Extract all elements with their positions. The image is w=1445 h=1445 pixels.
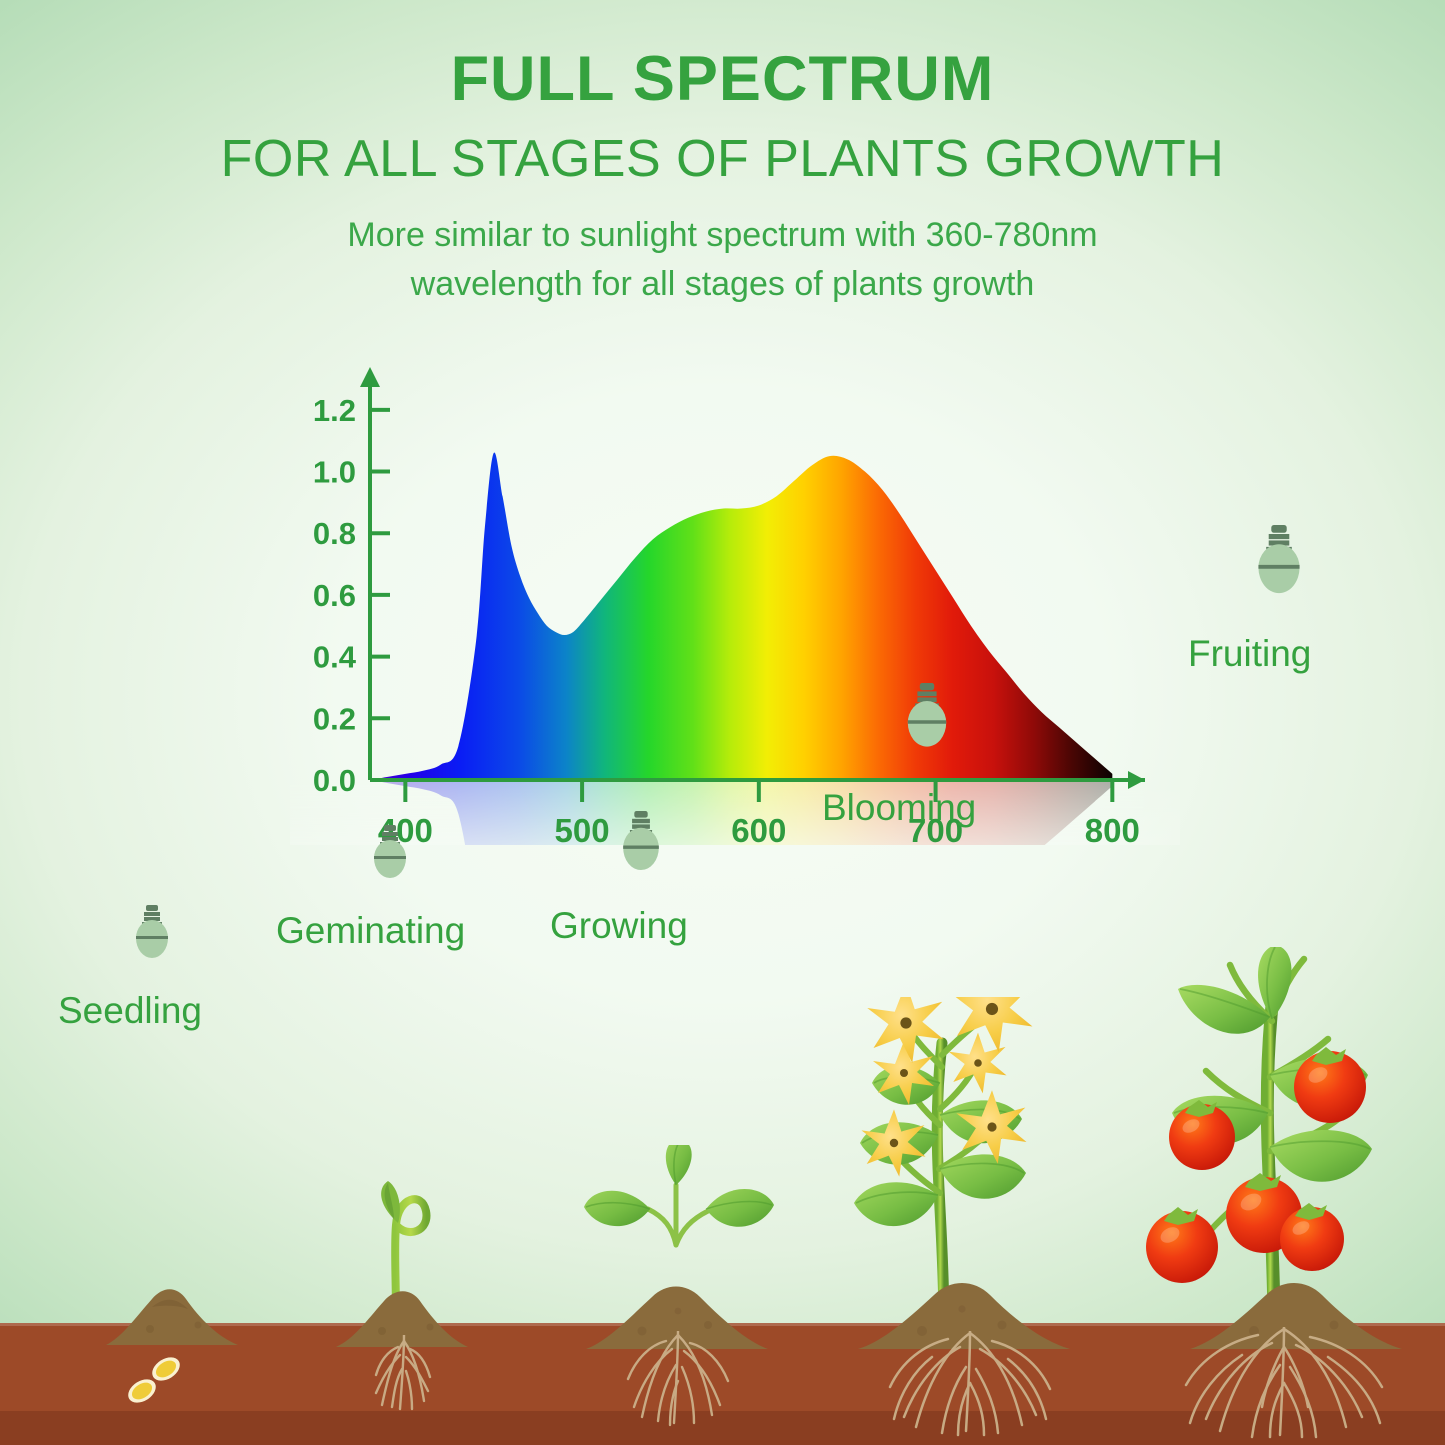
y-axis-tick-labels: 0.00.20.40.60.81.01.2	[313, 393, 357, 798]
stage-label-seedling: Seedling	[58, 990, 202, 1032]
header-block: FULL SPECTRUM FOR ALL STAGES OF PLANTS G…	[0, 0, 1445, 310]
stage-label-fruiting: Fruiting	[1188, 633, 1311, 675]
seeds-icon	[110, 1347, 230, 1417]
stage-label-growing: Growing	[550, 905, 688, 947]
page-subtitle: FOR ALL STAGES OF PLANTS GROWTH	[0, 133, 1445, 185]
y-tick-label: 1.2	[313, 393, 356, 428]
roots-icon	[1138, 1327, 1418, 1439]
roots-icon	[860, 1331, 1080, 1437]
light-bulb-icon	[366, 825, 414, 900]
light-bulb-icon	[898, 683, 956, 772]
y-axis-arrow-icon	[360, 367, 380, 387]
infographic-canvas: FULL SPECTRUM FOR ALL STAGES OF PLANTS G…	[0, 0, 1445, 1445]
stage-geminating[interactable]: Geminating	[262, 825, 562, 1445]
flower-group	[861, 997, 1032, 1177]
light-bulb-icon	[614, 811, 668, 894]
roots-icon	[350, 1335, 460, 1427]
stage-blooming[interactable]: Blooming	[790, 745, 1130, 1445]
page-title: FULL SPECTRUM	[0, 48, 1445, 111]
y-tick-label: 0.0	[313, 763, 356, 798]
soil-mound-seedling	[102, 1277, 242, 1345]
y-tick-label: 0.8	[313, 516, 356, 551]
description-line-2: wavelength for all stages of plants grow…	[0, 260, 1445, 309]
growth-stages-scene: Seedling	[0, 825, 1445, 1445]
y-tick-label: 0.2	[313, 701, 356, 736]
stage-seedling[interactable]: Seedling	[40, 885, 300, 1445]
description-line-1: More similar to sunlight spectrum with 3…	[0, 211, 1445, 260]
y-tick-label: 0.4	[313, 640, 357, 675]
stage-label-blooming: Blooming	[822, 787, 976, 829]
stage-label-geminating: Geminating	[276, 910, 465, 952]
y-axis-ticks	[370, 410, 390, 780]
y-tick-label: 0.6	[313, 578, 356, 613]
y-tick-label: 1.0	[313, 455, 356, 490]
page-description: More similar to sunlight spectrum with 3…	[0, 211, 1445, 310]
spectrum-curve	[370, 452, 1112, 780]
light-bulb-icon	[128, 905, 176, 980]
stage-fruiting[interactable]: Fruiting	[1090, 675, 1445, 1445]
light-bulb-icon	[1248, 525, 1310, 620]
roots-icon	[600, 1331, 756, 1431]
